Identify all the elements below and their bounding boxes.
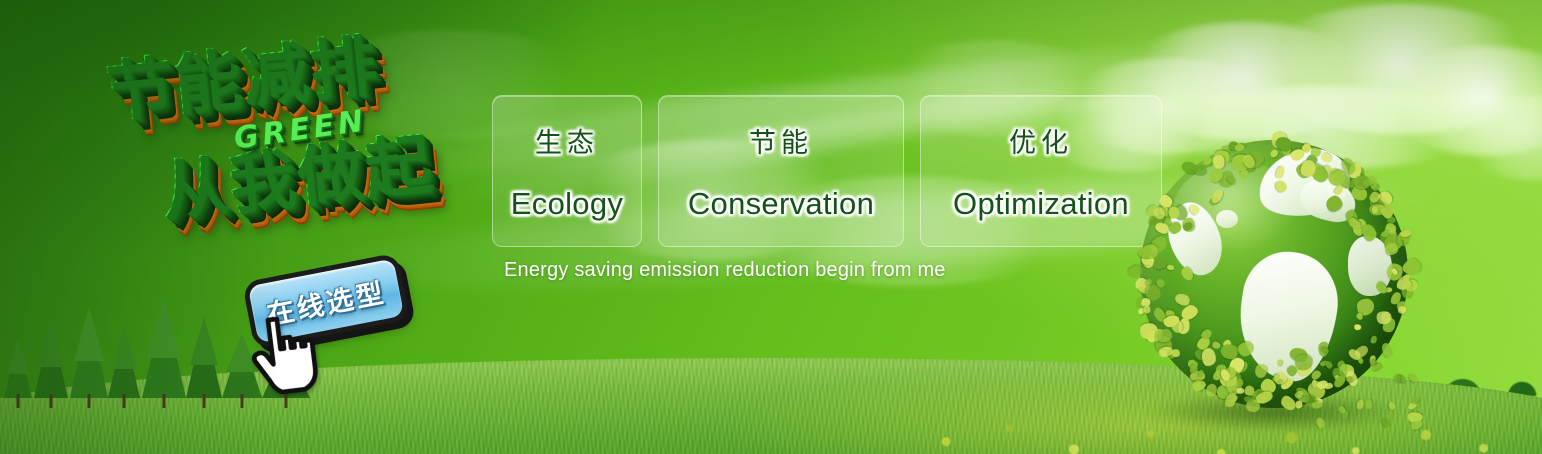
feature-card-cn-label: 节能 (749, 121, 813, 160)
green-energy-banner: 节能减排 GREEN 从我做起 在线选型 生态 Ecology 节能 Conse… (0, 0, 1542, 454)
continent-south-america (1232, 246, 1345, 386)
feature-card-en-label: Ecology (511, 186, 623, 222)
falling-leaf (1373, 363, 1384, 372)
falling-leaf (1394, 373, 1401, 384)
falling-leaf (1396, 373, 1408, 385)
globe-highlight (1174, 162, 1304, 254)
globe-sphere (1140, 140, 1408, 408)
falling-leaf (1407, 372, 1419, 384)
feature-card-cn-label: 生态 (535, 121, 599, 160)
headline-3d-text: 节能减排 GREEN 从我做起 (85, 17, 527, 290)
feature-card-en-label: Optimization (953, 186, 1129, 222)
pointing-hand-cursor-icon (245, 310, 328, 400)
feature-card-conservation[interactable]: 节能 Conservation (658, 95, 904, 247)
feature-card-optimization[interactable]: 优化 Optimization (920, 95, 1162, 247)
feature-card-cn-label: 优化 (1009, 121, 1073, 160)
banner-tagline: Energy saving emission reduction begin f… (504, 259, 946, 282)
cloud-decoration (1455, 96, 1542, 180)
feature-card-en-label: Conservation (688, 186, 874, 222)
falling-leaf (1408, 401, 1419, 410)
leafy-earth-globe-icon (1128, 128, 1418, 428)
feature-card-ecology[interactable]: 生态 Ecology (492, 95, 642, 247)
feature-card-list: 生态 Ecology 节能 Conservation 优化 Optimizati… (492, 95, 1162, 247)
continent-africa-edge (1348, 236, 1392, 296)
cloud-decoration (1250, 4, 1542, 134)
